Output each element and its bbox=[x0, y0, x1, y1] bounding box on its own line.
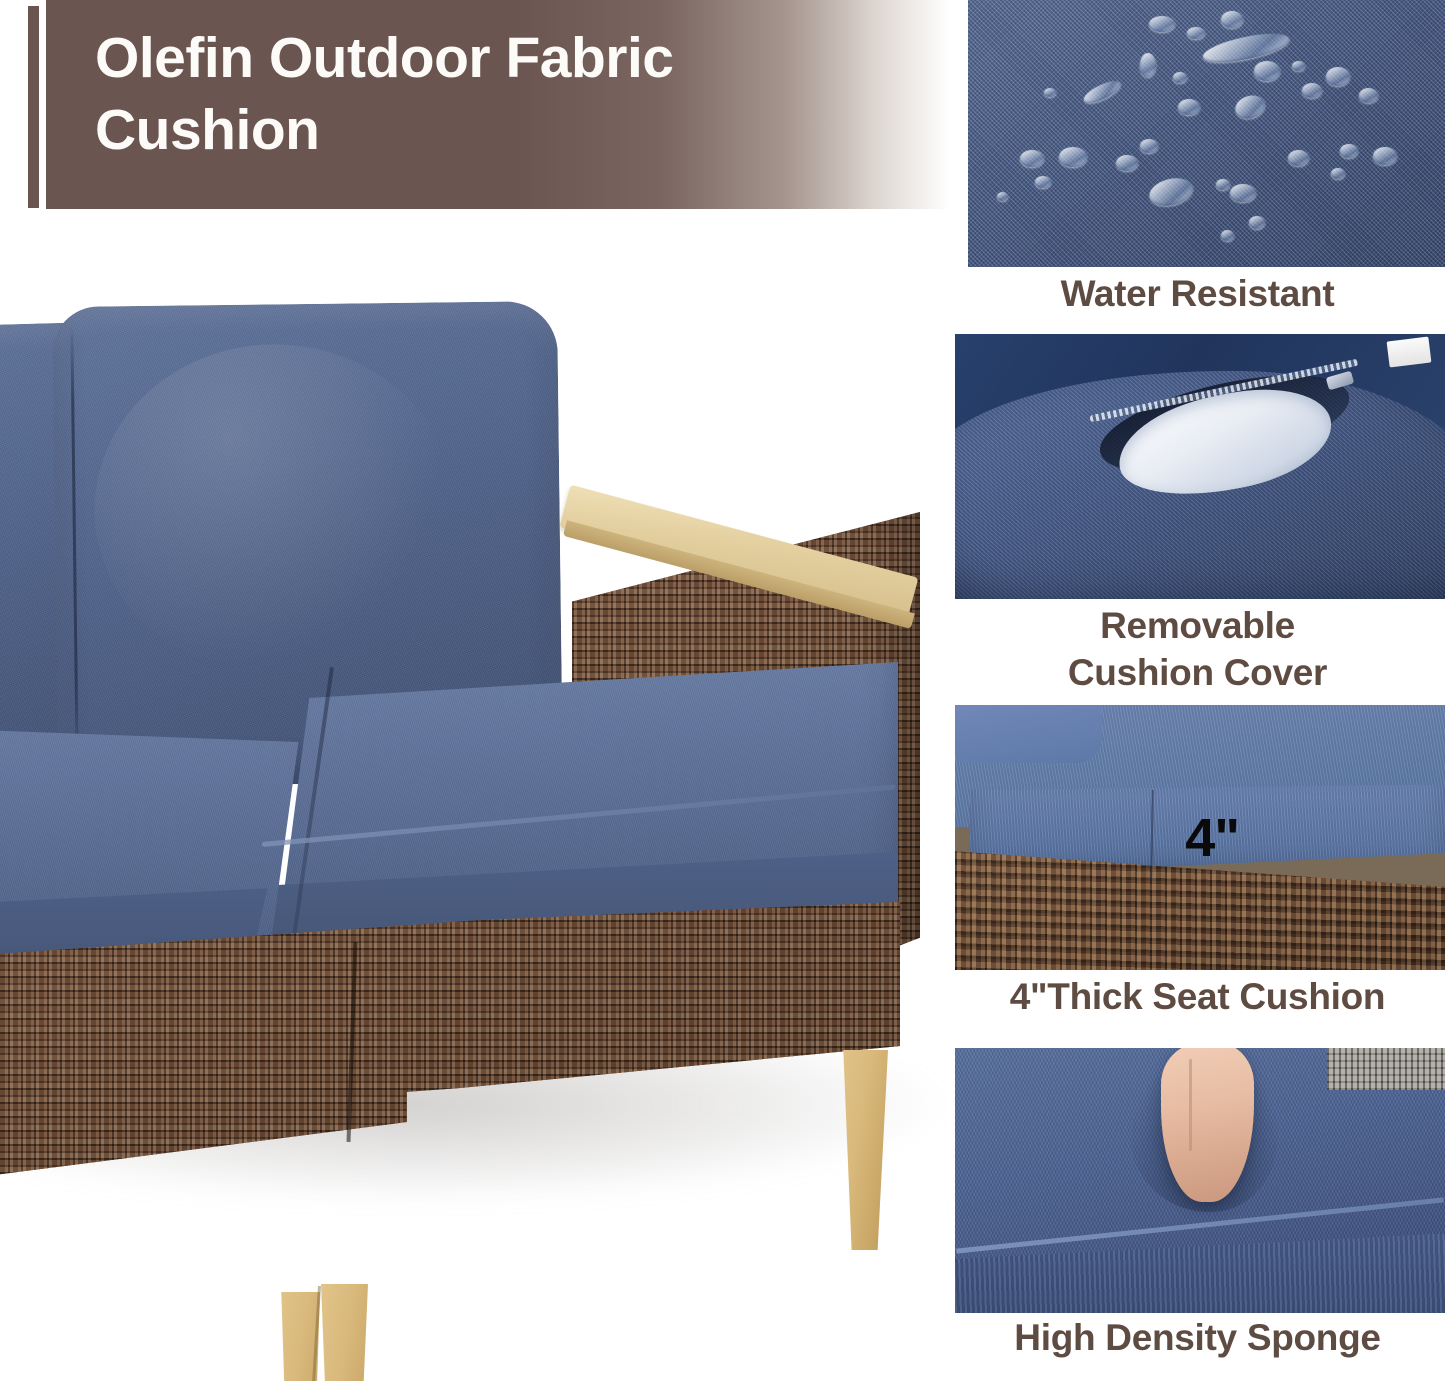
water-droplet bbox=[1187, 27, 1205, 39]
water-droplet bbox=[1326, 67, 1350, 86]
thick-cushion-label: 4"Thick Seat Cushion bbox=[950, 975, 1445, 1019]
infographic-canvas: Olefin Outdoor Fabric Cushion bbox=[0, 0, 1445, 1381]
thickness-annotation: 4" bbox=[1185, 811, 1239, 865]
water-droplet bbox=[1178, 99, 1200, 115]
header-banner: Olefin Outdoor Fabric Cushion bbox=[0, 0, 950, 212]
water-droplet bbox=[1221, 230, 1234, 241]
gray-wicker-corner bbox=[1327, 1048, 1445, 1090]
cushion-sheen bbox=[93, 342, 457, 676]
feature-water-resistant: Water Resistant bbox=[950, 0, 1445, 334]
water-droplet bbox=[997, 192, 1008, 201]
water-droplet bbox=[1140, 139, 1158, 153]
hero-product-image bbox=[0, 212, 950, 1381]
feature-high-density-sponge: High Density Sponge bbox=[950, 1048, 1445, 1381]
water-droplet bbox=[1035, 176, 1051, 188]
water-droplet bbox=[1302, 83, 1322, 98]
banner-accent-bar bbox=[28, 6, 39, 208]
water-droplet bbox=[1288, 150, 1309, 166]
water-droplet bbox=[1116, 155, 1138, 171]
water-droplet bbox=[1331, 168, 1345, 179]
high-density-sponge-label: High Density Sponge bbox=[950, 1316, 1445, 1360]
water-resistant-image bbox=[968, 0, 1445, 267]
feature-panel-column: Water Resistant Removable Cushion Cover bbox=[950, 0, 1445, 1381]
high-density-sponge-image bbox=[955, 1048, 1445, 1313]
water-droplet bbox=[1216, 179, 1230, 190]
back-cushion-edge bbox=[955, 705, 1102, 763]
water-droplet bbox=[1059, 147, 1087, 167]
fabric-weave-texture bbox=[968, 0, 1445, 267]
water-resistant-label: Water Resistant bbox=[950, 272, 1445, 316]
water-droplet bbox=[1020, 150, 1044, 167]
water-droplet bbox=[1140, 53, 1156, 77]
care-tag bbox=[1387, 337, 1432, 368]
feature-thick-cushion: 4" 4"Thick Seat Cushion bbox=[950, 705, 1445, 1048]
removable-cover-label: Removable Cushion Cover bbox=[950, 602, 1445, 696]
sofa-leg-front-right bbox=[318, 1284, 368, 1381]
thick-cushion-image: 4" bbox=[955, 705, 1445, 970]
removable-cover-image bbox=[955, 334, 1445, 599]
water-droplet bbox=[1221, 11, 1243, 28]
page-title: Olefin Outdoor Fabric Cushion bbox=[95, 22, 885, 166]
feature-removable-cover: Removable Cushion Cover bbox=[950, 334, 1445, 705]
